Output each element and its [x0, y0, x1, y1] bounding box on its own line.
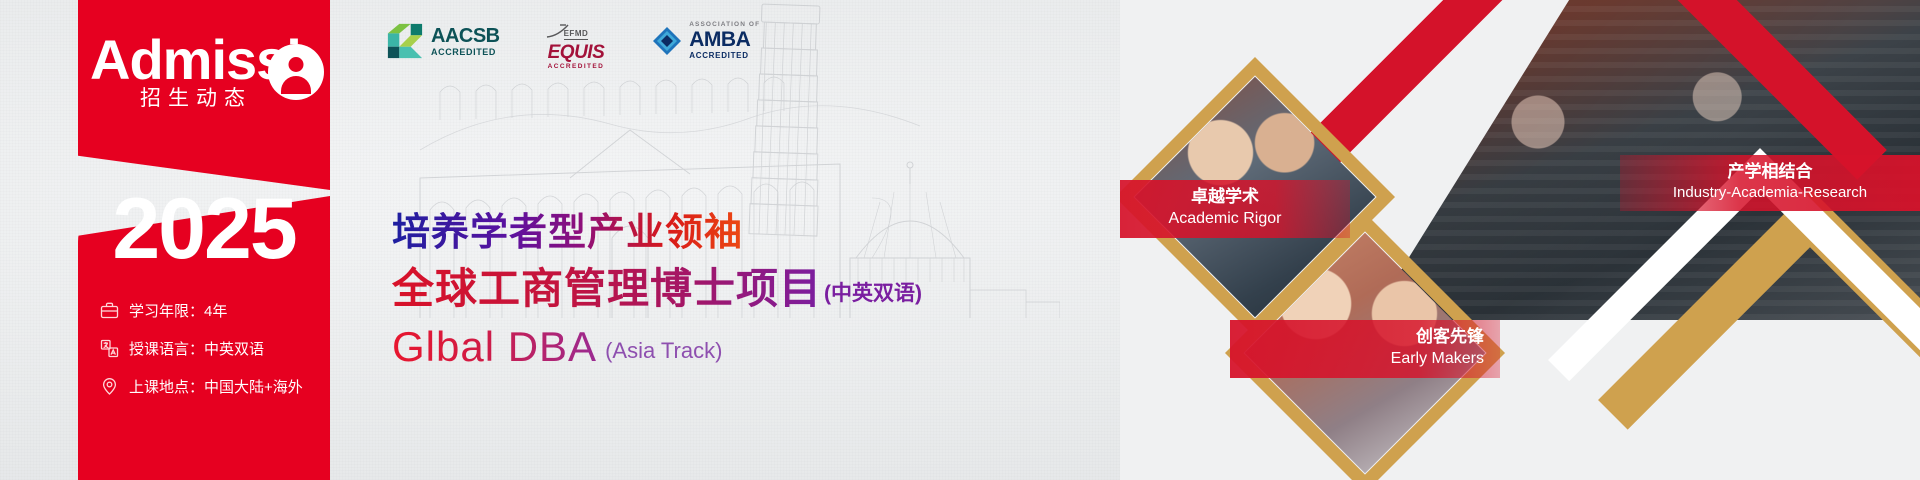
equis-sub: ACCREDITED: [548, 64, 605, 71]
program-en-line: Glbal DBA (Asia Track): [392, 326, 922, 368]
admission-banner: AACSB ACCREDITED EFMD EQUIS ACCREDITED: [0, 0, 1920, 480]
admission-wordmark-cn: 招生动态: [140, 82, 252, 112]
info-row-duration: 学习年限：4年: [100, 300, 330, 321]
accreditation-amba: ASSOCIATION OF AMBA ACCREDITED: [652, 22, 760, 60]
program-en-subtitle: (Asia Track): [605, 338, 722, 368]
amba-sub: ACCREDITED: [689, 52, 760, 60]
person-circle-icon: [268, 44, 324, 100]
equis-name: EQUIS: [548, 43, 605, 62]
tile-label-early-makers-cn: 创客先锋: [1246, 327, 1484, 347]
info-text-location: 上课地点：中国大陆+海外: [129, 376, 303, 397]
aacsb-sub: ACCREDITED: [431, 48, 500, 57]
location-pin-icon: [100, 377, 119, 396]
photo-collage: 卓越学术 Academic Rigor 创客先锋 Early Makers 产学…: [1120, 0, 1920, 480]
equis-logo-icon: [546, 24, 576, 38]
aacsb-logo-icon: [386, 22, 424, 60]
info-row-location: 上课地点：中国大陆+海外: [100, 376, 330, 397]
tagline: 培养学者型产业领袖: [392, 212, 922, 256]
tile-label-early-makers: 创客先锋 Early Makers: [1230, 320, 1500, 378]
tile-label-industry-academia: 产学相结合 Industry-Academia-Research: [1620, 155, 1920, 211]
info-text-duration: 学习年限：4年: [129, 300, 227, 321]
left-red-panel: Admissi 招生动态 2025 学习年限：4年: [78, 0, 330, 480]
program-cn-paren: (中英双语): [824, 277, 922, 312]
accreditation-equis: EFMD EQUIS ACCREDITED: [548, 22, 605, 71]
year-label: 2025: [78, 186, 330, 272]
tile-label-early-makers-en: Early Makers: [1246, 349, 1484, 368]
amba-name: AMBA: [689, 29, 760, 51]
program-info-list: 学习年限：4年 授课语言：中英双语: [100, 300, 330, 414]
tile-label-industry-academia-en: Industry-Academia-Research: [1636, 184, 1904, 202]
admission-logo: Admissi 招生动态: [90, 32, 334, 128]
language-icon: [100, 339, 119, 358]
tile-label-academic-rigor-cn: 卓越学术: [1120, 187, 1334, 207]
tile-label-academic-rigor-en: Academic Rigor: [1120, 209, 1334, 228]
tile-label-academic-rigor: 卓越学术 Academic Rigor: [1120, 180, 1350, 238]
headline-block: 培养学者型产业领袖 全球工商管理博士项目 (中英双语) Glbal DBA (A…: [392, 212, 922, 368]
amba-logo-icon: [652, 26, 682, 56]
accreditation-aacsb: AACSB ACCREDITED: [386, 22, 500, 60]
accreditation-logos: AACSB ACCREDITED EFMD EQUIS ACCREDITED: [386, 22, 760, 71]
info-row-language: 授课语言：中英双语: [100, 338, 330, 359]
program-en-title: Glbal DBA: [392, 326, 597, 368]
program-cn-title: 全球工商管理博士项目: [392, 266, 822, 312]
info-text-language: 授课语言：中英双语: [129, 338, 264, 359]
tile-label-industry-academia-cn: 产学相结合: [1636, 162, 1904, 182]
aacsb-name: AACSB: [431, 26, 500, 46]
briefcase-icon: [100, 301, 119, 320]
program-cn-line: 全球工商管理博士项目 (中英双语): [392, 266, 922, 312]
